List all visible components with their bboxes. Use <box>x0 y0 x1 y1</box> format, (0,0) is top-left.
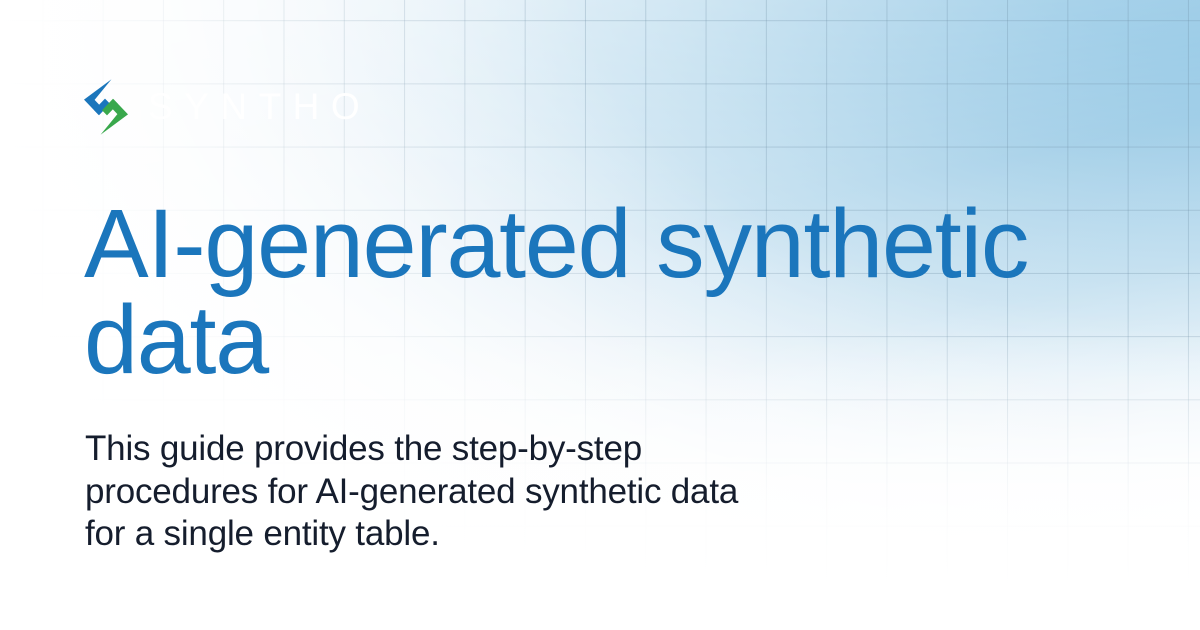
hero-description-line: This guide provides the step-by-step <box>85 428 905 471</box>
brand-wordmark: SYNTHO <box>148 88 371 127</box>
syntho-double-chevron-logo-icon <box>78 78 134 136</box>
hero-description-line: for a single entity table. <box>85 513 905 556</box>
hero-banner: SYNTHO AI-generated synthetic data This … <box>0 0 1200 630</box>
brand-logo[interactable]: SYNTHO <box>78 78 371 136</box>
page-title: AI-generated synthetic data <box>84 196 1094 388</box>
hero-description: This guide provides the step-by-step pro… <box>85 428 905 556</box>
hero-description-line: procedures for AI-generated synthetic da… <box>85 471 905 514</box>
hero-content: SYNTHO AI-generated synthetic data This … <box>0 0 1200 630</box>
